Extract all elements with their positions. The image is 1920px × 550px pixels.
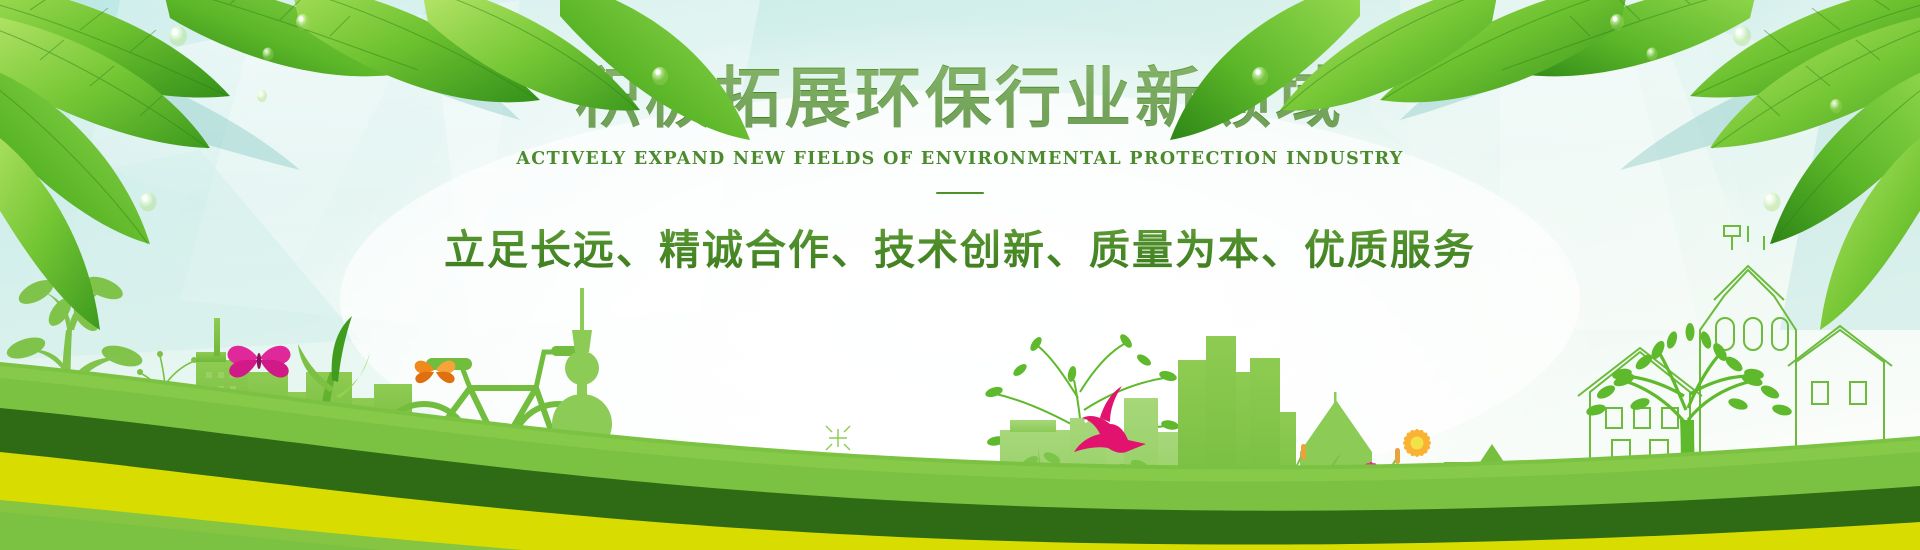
orange-flower-left [229,419,251,441]
leafy-tree [1585,323,1793,545]
title-divider [936,192,984,195]
left-branch-buds [135,351,198,414]
left-building-windows [206,372,236,392]
bicycle-silhouette [378,352,604,496]
sunflower [1380,428,1456,545]
left-grass [96,400,148,452]
wave-dark-green [0,408,1920,550]
center-small-flowers [865,493,878,506]
cattail-heads [1301,444,1400,464]
center-right-buildings [1000,398,1178,550]
sprout-plant [298,316,370,456]
bicycle-details [426,346,583,457]
wave-bottom-green [0,512,1920,550]
pink-flower-right [1362,461,1380,479]
center-tree-leaves [984,332,1180,447]
eco-banner: 积极拓展环保行业新领域 ACTIVELY EXPAND NEW FIELDS O… [0,0,1920,550]
page-subtitle: ACTIVELY EXPAND NEW FIELDS OF ENVIRONMEN… [516,149,1403,169]
ladybug [996,479,1025,500]
orange-butterfly [415,361,456,384]
houses-window-marks [1730,492,1812,502]
tiny-blossom-icon [826,426,850,450]
tall-towers [1178,336,1296,550]
pearl-tower-windows [577,460,587,514]
hummingbird [1074,386,1146,453]
left-thin-branches [140,356,194,452]
tower-leaf-emblem [1322,470,1349,528]
wave-yellow-green [0,452,1920,550]
page-tagline: 立足长远、精诚合作、技术创新、质量为本、优质服务 [444,216,1476,276]
banner-text-block: 积极拓展环保行业新领域 ACTIVELY EXPAND NEW FIELDS O… [0,0,1920,330]
pink-butterfly [228,346,291,378]
pointed-tower [1300,392,1372,550]
center-left-buildings [606,460,796,550]
page-title: 积极拓展环保行业新领域 [575,62,1345,135]
right-grass [1232,452,1382,545]
wave-base-green [0,500,1920,550]
wave-highlight [0,366,1920,482]
center-thin-tree [996,344,1166,545]
left-buildings [196,318,412,455]
wave-hill-light [0,362,1920,550]
center-small-grass [826,498,902,548]
castle-wall-building [1388,444,1514,550]
cattail-stems [1280,452,1398,545]
houses-fill-silhouette [1560,470,1920,550]
building-vines [1018,448,1153,545]
red-berries [589,489,637,515]
